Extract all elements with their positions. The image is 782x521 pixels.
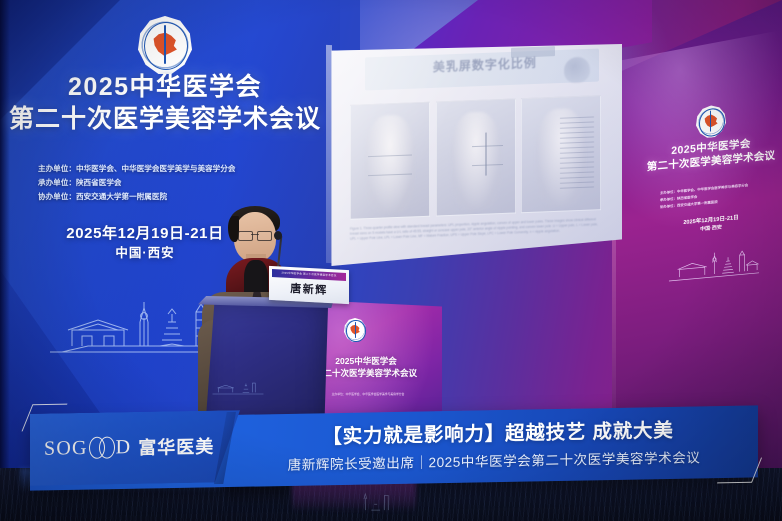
floor-reflection-skyline-icon: [330, 486, 400, 518]
slide-figure-row: [350, 95, 601, 220]
sogood-double-o-mark: [89, 436, 115, 458]
conference-photo: 美乳屏数字化比例 Figure 1.: [0, 0, 782, 521]
sogood-logo: SOGD 富华医美: [44, 430, 234, 463]
conference-title: 2025中华医学会 第二十次医学美容学术会议: [640, 135, 782, 175]
slide-figure-panel: [436, 98, 516, 217]
organizer-line: 承办单位：陕西省医学会: [38, 176, 318, 190]
organizer-line: 主办单位：中华医学会、中华医学会医学美学与美容学分会: [38, 162, 318, 176]
sogood-letter-g: G: [72, 436, 88, 459]
cma-emblem-icon: [138, 16, 192, 74]
slide-figure-panel: [350, 101, 430, 220]
right-backdrop-panel: 2025中华医学会 第二十次医学美容学术会议 主办单位：中华医学会、中华医学会医…: [640, 83, 782, 396]
sogood-logo-chinese: 富华医美: [138, 433, 214, 460]
conference-title: 2025中华医学会 第二十次医学美容学术会议: [0, 72, 330, 135]
cma-emblem-icon: [696, 104, 726, 139]
projection-screen: 美乳屏数字化比例 Figure 1.: [330, 44, 622, 266]
organizer-list: 主办单位：中华医学会、中华医学会医学美学与美容学分会 承办单位：陕西省医学会 协…: [38, 162, 318, 204]
xian-skyline-icon: [668, 245, 760, 287]
organizer-list: 主办单位：中华医学会、中华医学会医学美学与美容学分会 承办单位：陕西省医学会 协…: [660, 180, 772, 211]
microphone-icon: [274, 231, 282, 240]
speaker-nameplate: 2025中华医学会 第二十次医学美容学术会议 唐新辉: [269, 266, 349, 304]
conference-title-line1: 2025中华医学会: [0, 72, 330, 102]
nameplate-name: 唐新辉: [269, 279, 349, 299]
sogood-letter-d: D: [116, 436, 132, 459]
sogood-letters-so: SO: [44, 437, 72, 461]
slide-figure-panel: [522, 95, 602, 214]
eyeglasses-icon: [238, 231, 272, 239]
conference-title-line2: 第二十次医学美容学术会议: [0, 103, 330, 135]
cma-emblem-icon: [344, 318, 366, 342]
slide-mascot-icon: [564, 57, 590, 84]
lectern-skyline-icon: [212, 370, 264, 406]
sogood-logo-latin: SOGD: [44, 436, 131, 461]
organizer-line: 主办单位：中华医学会、中华医学会医学美学与美容学分会: [310, 392, 426, 397]
